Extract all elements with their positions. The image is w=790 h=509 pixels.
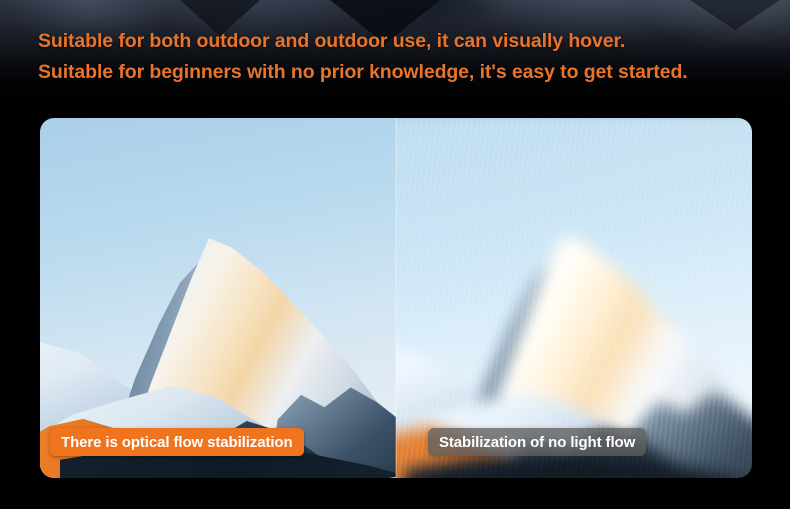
left-pane-stabilized: There is optical flow stabilization xyxy=(40,118,396,478)
badge-optical-flow-stabilization: There is optical flow stabilization xyxy=(50,428,304,456)
headline-block: Suitable for both outdoor and outdoor us… xyxy=(38,26,778,88)
mountain-photo-sharp xyxy=(40,118,396,478)
headline-line-2: Suitable for beginners with no prior kno… xyxy=(38,57,778,88)
ridge-rock-right-blurred xyxy=(623,374,752,478)
sky-blurred xyxy=(396,118,752,478)
promo-banner: Suitable for both outdoor and outdoor us… xyxy=(0,0,790,509)
headline-line-1: Suitable for both outdoor and outdoor us… xyxy=(38,26,778,57)
right-pane-unstabilized: Stabilization of no light flow xyxy=(396,118,752,478)
badge-no-light-flow: Stabilization of no light flow xyxy=(428,428,646,456)
bottom-fade xyxy=(0,478,790,509)
comparison-panel: There is optical flow stabilization Stab… xyxy=(40,118,752,478)
mountain-photo-blurred xyxy=(396,118,752,478)
